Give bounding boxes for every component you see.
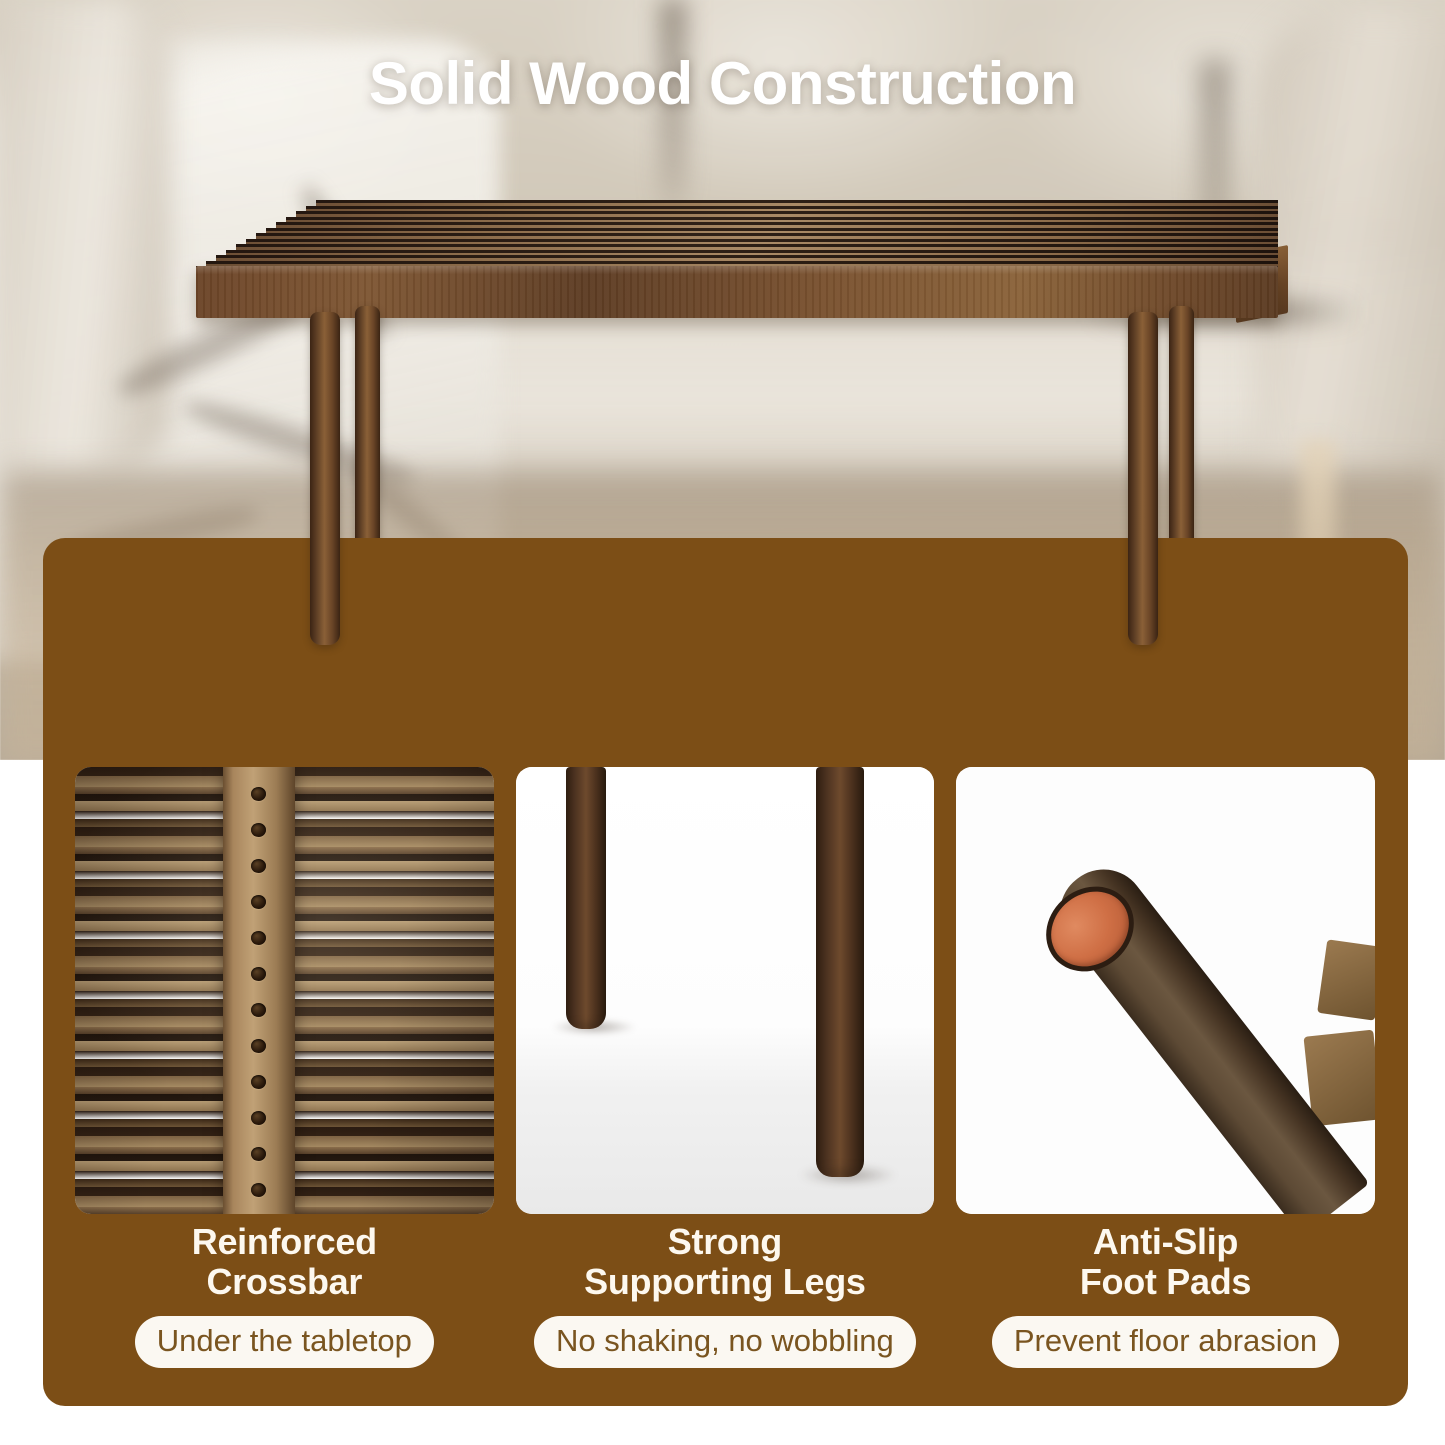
feature-photo-cards (75, 767, 1375, 1214)
reinforced-crossbar (223, 767, 295, 1214)
feature-heading: Strong Supporting Legs (516, 1222, 935, 1303)
feature-card-foot-pads[interactable] (956, 767, 1375, 1214)
product-feature-poster: Solid Wood Construction (0, 0, 1445, 1445)
feature-card-crossbar[interactable] (75, 767, 494, 1214)
feature-caption-crossbar: Reinforced Crossbar Under the tabletop (75, 1222, 494, 1368)
crossbar-screw (251, 967, 266, 981)
leg-shadow (800, 1165, 896, 1185)
feature-heading: Reinforced Crossbar (75, 1222, 494, 1303)
crossbar-screw (251, 787, 266, 801)
feature-caption-foot-pads: Anti-Slip Foot Pads Prevent floor abrasi… (956, 1222, 1375, 1368)
leg-shadow (552, 1019, 636, 1035)
front-legs-overlay (0, 0, 1445, 760)
supporting-legs-photo (516, 767, 935, 1214)
feature-pill: Prevent floor abrasion (992, 1316, 1339, 1369)
table-leg (816, 767, 864, 1177)
wood-offcut (1317, 939, 1374, 1020)
feature-pill: No shaking, no wobbling (534, 1316, 916, 1369)
feature-caption-legs: Strong Supporting Legs No shaking, no wo… (516, 1222, 935, 1368)
crossbar-screw (251, 1003, 266, 1017)
crossbar-screw (251, 859, 266, 873)
crossbar-screw (251, 1147, 266, 1161)
crossbar-screw (251, 1183, 266, 1197)
feature-captions: Reinforced Crossbar Under the tabletop S… (75, 1222, 1375, 1368)
crossbar-screw (251, 1075, 266, 1089)
foot-pad-photo (956, 767, 1375, 1214)
wood-offcut (1304, 1030, 1375, 1127)
crossbar-screw (251, 895, 266, 909)
table-leg-front-left (310, 312, 340, 645)
crossbar-screw (251, 931, 266, 945)
feature-heading: Anti-Slip Foot Pads (956, 1222, 1375, 1303)
feature-pill: Under the tabletop (135, 1316, 434, 1369)
crossbar-screw (251, 1111, 266, 1125)
table-leg (566, 767, 606, 1029)
crossbar-screw (251, 1039, 266, 1053)
crossbar-screw (251, 823, 266, 837)
table-leg-front-right (1128, 312, 1158, 645)
feature-card-legs[interactable] (516, 767, 935, 1214)
